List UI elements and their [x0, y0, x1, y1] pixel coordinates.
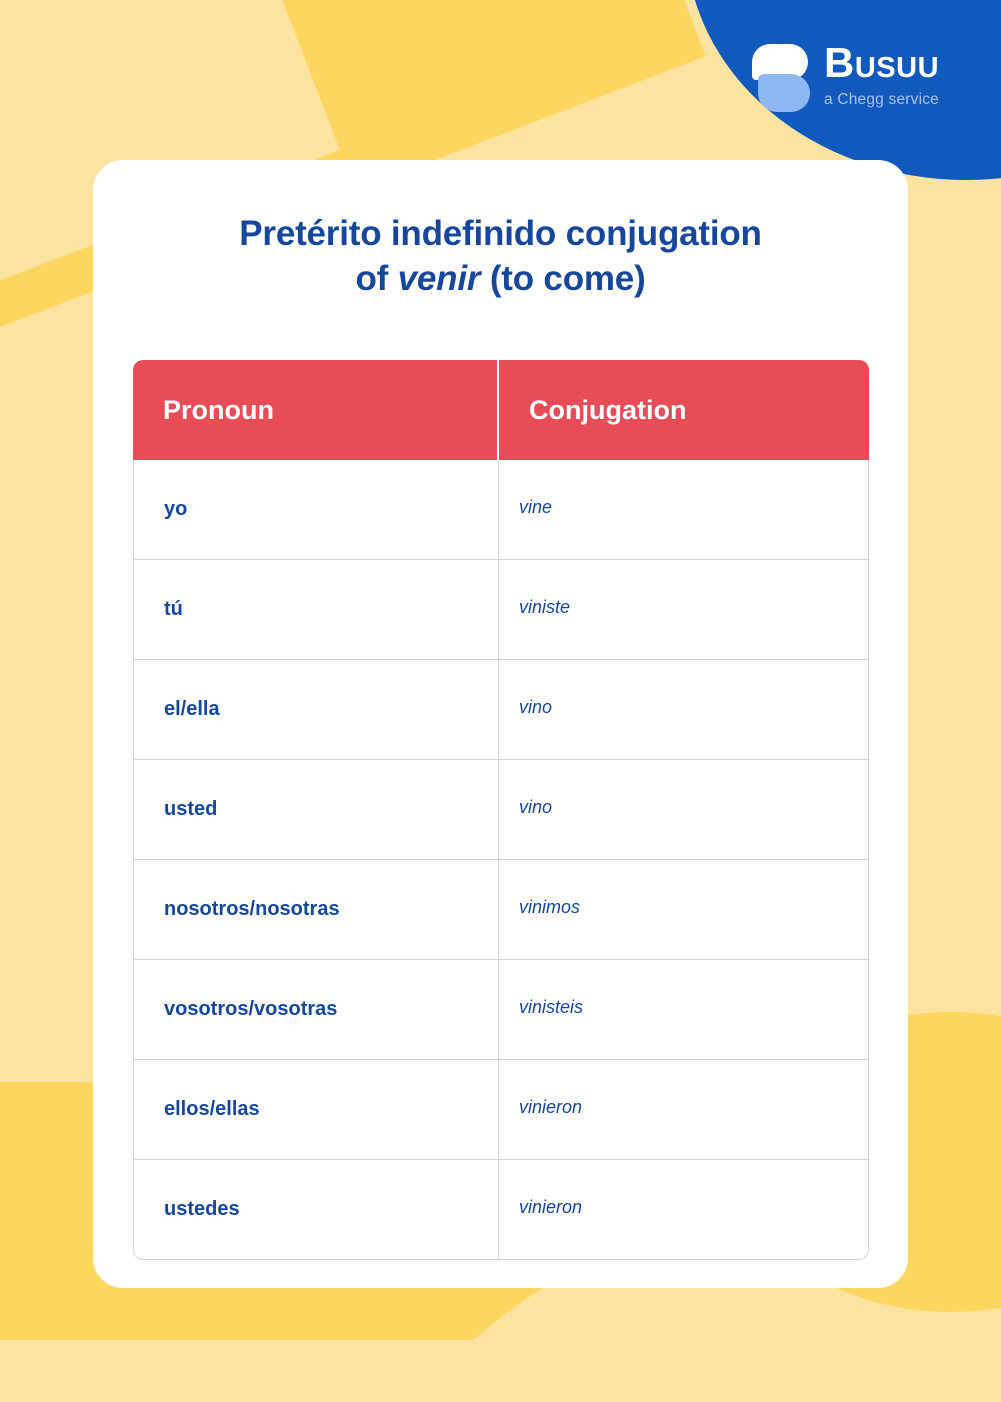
table-body: yo vine tú viniste el/ella vino usted vi…: [133, 460, 869, 1260]
cell-conjugation: vinimos: [499, 860, 869, 960]
table-row: nosotros/nosotras vinimos: [133, 860, 869, 960]
cell-pronoun: tú: [133, 560, 499, 660]
table-row: vosotros/vosotras vinisteis: [133, 960, 869, 1060]
cell-pronoun: ellos/ellas: [133, 1060, 499, 1160]
conjugation-table-wrapper: Pronoun Conjugation yo vine tú viniste e…: [133, 360, 869, 1260]
column-header-conjugation: Conjugation: [499, 360, 869, 460]
table-row: ellos/ellas vinieron: [133, 1060, 869, 1160]
column-header-pronoun: Pronoun: [133, 360, 499, 460]
page-root: Busuu a Chegg service Pretérito indefini…: [0, 0, 1001, 1402]
page-title-line1: Pretérito indefinido conjugation: [239, 214, 761, 253]
bg-shape-bottom-strip: [0, 1340, 1001, 1402]
busuu-logo: Busuu a Chegg service: [752, 42, 939, 114]
table-row: yo vine: [133, 460, 869, 560]
cell-conjugation: vinieron: [499, 1160, 869, 1260]
cell-conjugation: vinisteis: [499, 960, 869, 1060]
content-card: Pretérito indefinido conjugation of veni…: [93, 160, 908, 1288]
page-title-line2-suffix: (to come): [480, 259, 645, 298]
cell-conjugation: vino: [499, 760, 869, 860]
table-head: Pronoun Conjugation: [133, 360, 869, 460]
cell-conjugation: vinieron: [499, 1060, 869, 1160]
cell-pronoun: vosotros/vosotras: [133, 960, 499, 1060]
page-title-line2-prefix: of: [355, 259, 397, 298]
cell-pronoun: ustedes: [133, 1160, 499, 1260]
logo-tagline: a Chegg service: [824, 91, 939, 109]
cell-pronoun: yo: [133, 460, 499, 560]
cell-conjugation: vino: [499, 660, 869, 760]
page-title-verb: venir: [398, 259, 481, 298]
cell-pronoun: el/ella: [133, 660, 499, 760]
conjugation-table: Pronoun Conjugation yo vine tú viniste e…: [133, 360, 869, 1260]
table-row: el/ella vino: [133, 660, 869, 760]
table-row: ustedes vinieron: [133, 1160, 869, 1260]
cell-pronoun: nosotros/nosotras: [133, 860, 499, 960]
logo-wordmark: Busuu: [824, 42, 939, 84]
table-row: usted vino: [133, 760, 869, 860]
table-row: tú viniste: [133, 560, 869, 660]
page-title: Pretérito indefinido conjugation of veni…: [93, 160, 908, 302]
logo-lobe-bottom: [758, 74, 810, 112]
cell-conjugation: vine: [499, 460, 869, 560]
table-header-row: Pronoun Conjugation: [133, 360, 869, 460]
cell-conjugation: viniste: [499, 560, 869, 660]
busuu-logo-mark-icon: [752, 42, 810, 114]
cell-pronoun: usted: [133, 760, 499, 860]
logo-text-block: Busuu a Chegg service: [824, 42, 939, 109]
